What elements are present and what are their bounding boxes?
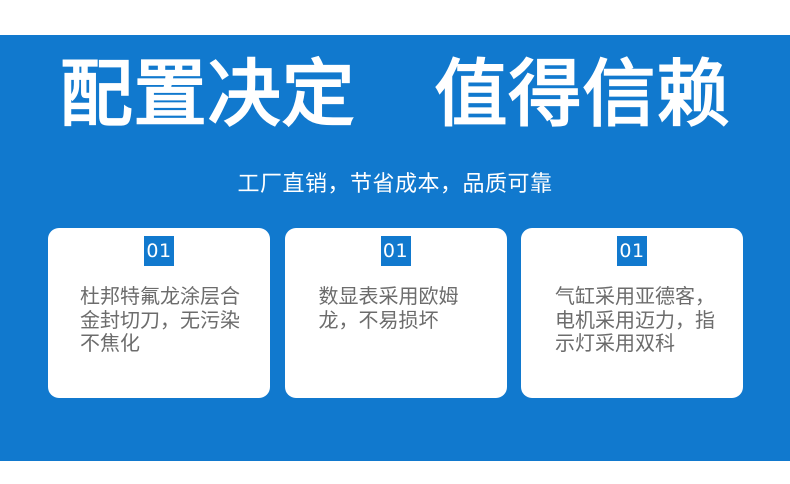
- headline-segment-1: 配置决定: [60, 52, 356, 137]
- feature-card: 01 气缸采用亚德客，电机采用迈力，指示灯采用双科: [521, 228, 743, 398]
- feature-card-list: 01 杜邦特氟龙涂层合金封切刀，无污染不焦化 01 数显表采用欧姆龙，不易损坏 …: [48, 228, 743, 398]
- headline-segment-2: 值得信赖: [434, 52, 730, 137]
- status-badge: 01: [381, 236, 411, 266]
- feature-card-text: 气缸采用亚德客，电机采用迈力，指示灯采用双科: [555, 285, 725, 356]
- page-title: 配置决定 值得信赖: [0, 50, 790, 140]
- status-badge: 01: [144, 236, 174, 266]
- promo-banner: 配置决定 值得信赖 工厂直销，节省成本，品质可靠 01 杜邦特氟龙涂层合金封切刀…: [0, 0, 790, 484]
- page-subtitle: 工厂直销，节省成本，品质可靠: [0, 170, 790, 200]
- feature-card: 01 数显表采用欧姆龙，不易损坏: [285, 228, 507, 398]
- feature-card: 01 杜邦特氟龙涂层合金封切刀，无污染不焦化: [48, 228, 270, 398]
- status-badge: 01: [617, 236, 647, 266]
- feature-card-text: 数显表采用欧姆龙，不易损坏: [319, 285, 489, 332]
- feature-card-text: 杜邦特氟龙涂层合金封切刀，无污染不焦化: [80, 285, 252, 356]
